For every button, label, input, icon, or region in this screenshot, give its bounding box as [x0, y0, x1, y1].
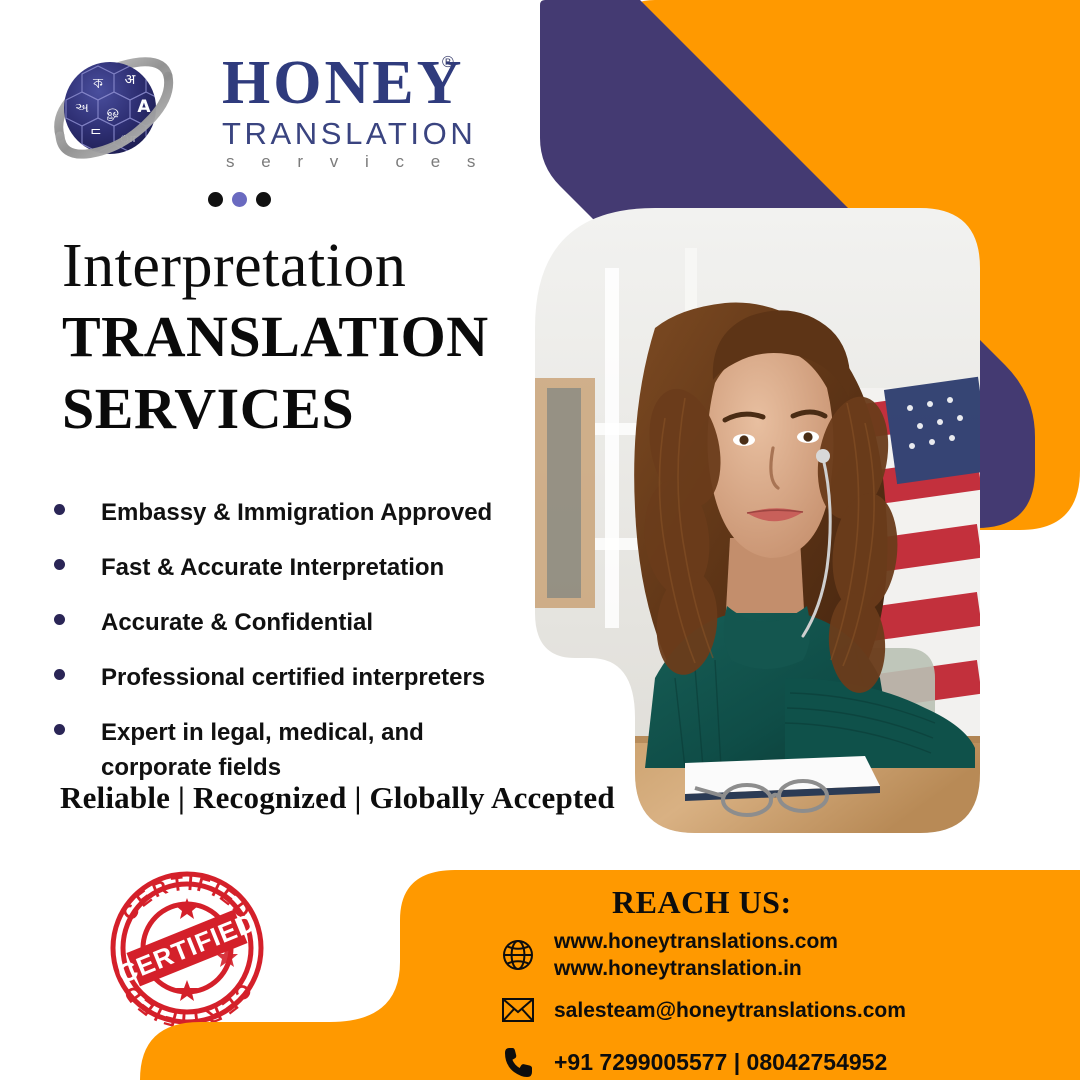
email-address[interactable]: salesteam@honeytranslations.com	[554, 997, 906, 1024]
logo-name-tertiary: s e r v i c e s	[226, 152, 486, 172]
headline-script-line: Interpretation	[62, 234, 522, 298]
logo-name-secondary: TRANSLATION	[222, 116, 476, 152]
bullet-dot-icon	[54, 724, 65, 735]
list-item-label: Professional certified interpreters	[101, 660, 485, 695]
website-primary[interactable]: www.honeytranslations.com	[554, 928, 838, 955]
bullet-dot-icon	[54, 504, 65, 515]
bullet-dot-icon	[54, 614, 65, 625]
website-secondary[interactable]: www.honeytranslation.in	[554, 955, 838, 982]
website-list: www.honeytranslations.com www.honeytrans…	[554, 928, 838, 982]
brand-logo[interactable]: ক अ । અ ௐ A व ᄃ ா । HONEY ® TRANSLATION …	[52, 48, 472, 178]
contact-info: REACH US: www.honeytranslations.com www.…	[430, 870, 1080, 1080]
svg-text:ক: ক	[92, 76, 103, 92]
list-item-label: Accurate & Confidential	[101, 605, 373, 640]
dot-1	[208, 192, 223, 207]
dot-2	[232, 192, 247, 207]
hero-photo	[535, 208, 980, 833]
list-item: Embassy & Immigration Approved	[54, 495, 524, 530]
svg-text:A: A	[137, 97, 151, 117]
list-item-label: Expert in legal, medical, and corporate …	[101, 715, 441, 785]
bullet-dot-icon	[54, 559, 65, 570]
globe-icon	[498, 935, 538, 975]
contact-row-website[interactable]: www.honeytranslations.com www.honeytrans…	[498, 928, 838, 982]
tagline: Reliable | Recognized | Globally Accepte…	[60, 780, 615, 816]
dot-3	[256, 192, 271, 207]
registered-mark-icon: ®	[442, 54, 454, 72]
feature-list: Embassy & Immigration Approved Fast & Ac…	[54, 495, 524, 805]
globe-languages-icon: ক अ । અ ௐ A व ᄃ ா ।	[52, 50, 174, 172]
list-item: Accurate & Confidential	[54, 605, 524, 640]
logo-name-primary: HONEY	[222, 52, 464, 114]
envelope-icon	[498, 990, 538, 1030]
contact-row-email[interactable]: salesteam@honeytranslations.com	[498, 990, 906, 1030]
phone-numbers[interactable]: +91 7299005577 | 08042754952	[554, 1049, 887, 1076]
list-item-label: Fast & Accurate Interpretation	[101, 550, 444, 585]
logo-wordmark: HONEY ® TRANSLATION s e r v i c e s	[174, 48, 474, 178]
dot-separator	[208, 192, 271, 207]
list-item: Professional certified interpreters	[54, 660, 524, 695]
list-item-label: Embassy & Immigration Approved	[101, 495, 492, 530]
list-item: Expert in legal, medical, and corporate …	[54, 715, 524, 785]
svg-text:ௐ: ௐ	[107, 102, 122, 121]
contact-title: REACH US:	[612, 884, 792, 921]
headline-block: Interpretation TRANSLATION SERVICES	[62, 234, 522, 442]
headline-bold-line-2: SERVICES	[62, 376, 522, 442]
svg-text:।: ।	[154, 125, 159, 139]
svg-text:અ: અ	[75, 101, 89, 116]
svg-text:अ: अ	[125, 72, 136, 88]
contact-row-phone[interactable]: +91 7299005577 | 08042754952	[498, 1042, 887, 1080]
poster-canvas: ক अ । અ ௐ A व ᄃ ா । HONEY ® TRANSLATION …	[0, 0, 1080, 1080]
list-item: Fast & Accurate Interpretation	[54, 550, 524, 585]
bullet-dot-icon	[54, 669, 65, 680]
headline-bold-line-1: TRANSLATION	[62, 304, 522, 370]
svg-text:।: ।	[154, 79, 159, 93]
svg-text:ᄃ: ᄃ	[90, 128, 103, 144]
phone-icon	[498, 1042, 538, 1080]
